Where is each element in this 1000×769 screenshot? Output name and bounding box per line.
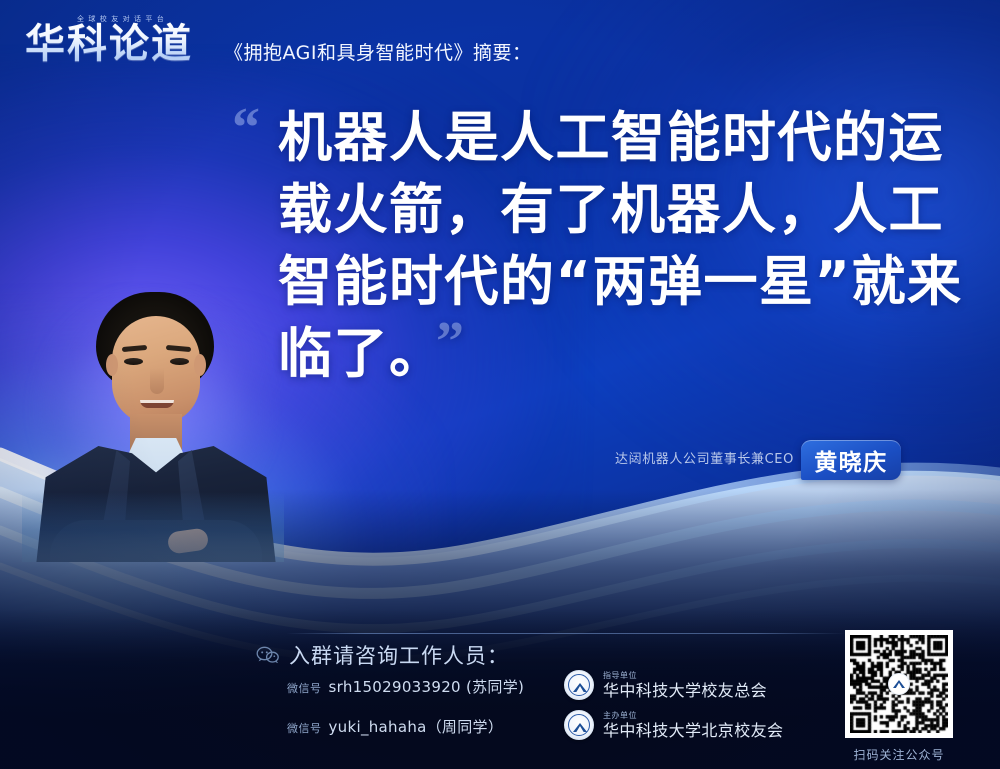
contact-row[interactable]: 微信号yuki_hahaha（周同学）: [287, 716, 503, 737]
speaker-name-badge: 黄晓庆: [801, 440, 901, 480]
page-title: 《拥抱AGI和具身智能时代》摘要：: [224, 38, 532, 65]
quote-close-mark: ”: [436, 322, 466, 362]
quote-line: 临了。: [278, 322, 445, 385]
qr-center-logo-icon: [888, 673, 910, 695]
org-name: 华中科技大学校友总会: [603, 681, 767, 700]
contact-label: 微信号: [287, 722, 322, 735]
quote-text: 机器人是人工智能时代的运 载火箭，有了机器人，人工 智能时代的“两弹一星”就来 …: [278, 102, 950, 390]
brand-logo: 全球校友对话平台 华科论道: [25, 12, 215, 68]
brand-name: 华科论道: [25, 20, 193, 68]
quote-line: 机器人是人工智能时代的运: [278, 102, 950, 174]
wechat-icon: [256, 646, 280, 664]
contact-value: srh15029033920 (苏同学): [329, 678, 525, 696]
org-kicker: 主办单位: [603, 711, 783, 721]
organization-row: 指导单位 华中科技大学校友总会: [564, 670, 767, 700]
footer-title: 入群请咨询工作人员：: [289, 640, 509, 670]
quote-line: 智能时代的“两弹一星”就来: [278, 246, 950, 318]
quote-line-wrap: 临了。 ”: [278, 318, 950, 390]
organization-row: 主办单位 华中科技大学北京校友会: [564, 710, 783, 740]
contact-value: yuki_hahaha（周同学）: [329, 718, 504, 736]
qr-caption: 扫码关注公众号: [842, 746, 956, 763]
speaker-name: 黄晓庆: [814, 443, 888, 477]
contact-row[interactable]: 微信号srh15029033920 (苏同学): [287, 676, 524, 697]
header-bar: 全球校友对话平台 华科论道 《拥抱AGI和具身智能时代》摘要：: [0, 0, 1000, 88]
poster-canvas: 全球校友对话平台 华科论道 《拥抱AGI和具身智能时代》摘要： “ 机器人是人工…: [0, 0, 1000, 769]
footer-divider: [286, 633, 846, 634]
university-seal-icon: [564, 710, 594, 740]
org-kicker: 指导单位: [603, 671, 767, 681]
contact-label: 微信号: [287, 682, 322, 695]
speaker-role: 达闼机器人公司董事长兼CEO: [615, 448, 794, 467]
org-name: 华中科技大学北京校友会: [603, 721, 783, 740]
quote-open-mark: “: [232, 108, 260, 148]
university-seal-icon: [564, 670, 594, 700]
qr-code[interactable]: [845, 630, 953, 738]
quote-line: 载火箭，有了机器人，人工: [278, 174, 950, 246]
